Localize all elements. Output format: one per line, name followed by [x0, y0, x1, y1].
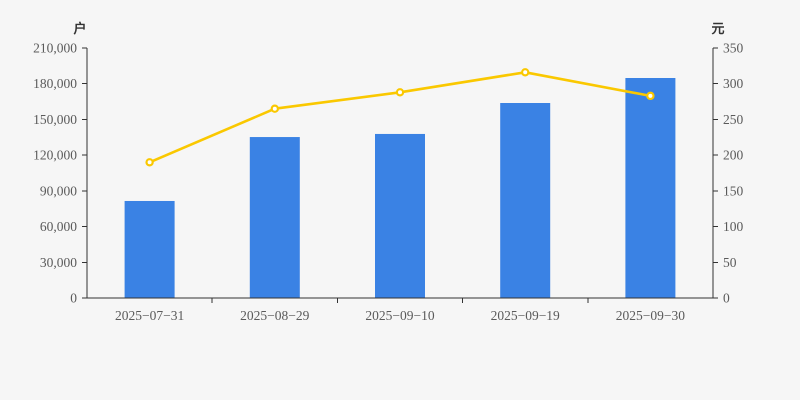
bar[interactable]	[500, 103, 550, 298]
y2-axis-tick-label: 300	[723, 76, 744, 91]
y2-axis-tick-label: 100	[723, 219, 744, 234]
chart-container: 户 元 030,00060,00090,000120,000150,000180…	[0, 0, 800, 400]
bar[interactable]	[250, 137, 300, 298]
y2-axis-tick-label: 0	[723, 291, 730, 306]
y-axis-tick-label: 30,000	[40, 255, 77, 270]
y-axis-tick-label: 210,000	[33, 41, 77, 56]
x-axis-category-label: 2025−09−10	[365, 308, 434, 323]
x-axis-category-label: 2025−08−29	[240, 308, 309, 323]
y2-axis-tick-label: 250	[723, 112, 744, 127]
bar[interactable]	[125, 201, 175, 298]
bar[interactable]	[375, 134, 425, 298]
bar[interactable]	[625, 78, 675, 298]
y2-axis-tick-label: 150	[723, 183, 744, 198]
y-axis-tick-label: 120,000	[33, 148, 77, 163]
line-data-point[interactable]	[647, 93, 653, 99]
y2-axis-tick-label: 50	[723, 255, 737, 270]
y2-axis-tick-label: 350	[723, 41, 744, 56]
x-axis-category-label: 2025−07−31	[115, 308, 184, 323]
y-axis-tick-label: 60,000	[40, 219, 77, 234]
y-axis-tick-label: 0	[70, 291, 77, 306]
line-data-point[interactable]	[522, 69, 528, 75]
x-axis-category-label: 2025−09−19	[491, 308, 560, 323]
x-axis-category-label: 2025−09−30	[616, 308, 685, 323]
y-axis-tick-label: 180,000	[33, 76, 77, 91]
dual-axis-bar-line-chart: 户 元 030,00060,00090,000120,000150,000180…	[0, 0, 800, 400]
line-data-point[interactable]	[272, 106, 278, 112]
y-axis-tick-label: 90,000	[40, 183, 77, 198]
right-axis-unit-label: 元	[711, 21, 724, 36]
line-data-point[interactable]	[397, 89, 403, 95]
y-axis-tick-label: 150,000	[33, 112, 77, 127]
y2-axis-tick-label: 200	[723, 148, 744, 163]
left-axis-unit-label: 户	[73, 21, 86, 36]
line-data-point[interactable]	[147, 159, 153, 165]
